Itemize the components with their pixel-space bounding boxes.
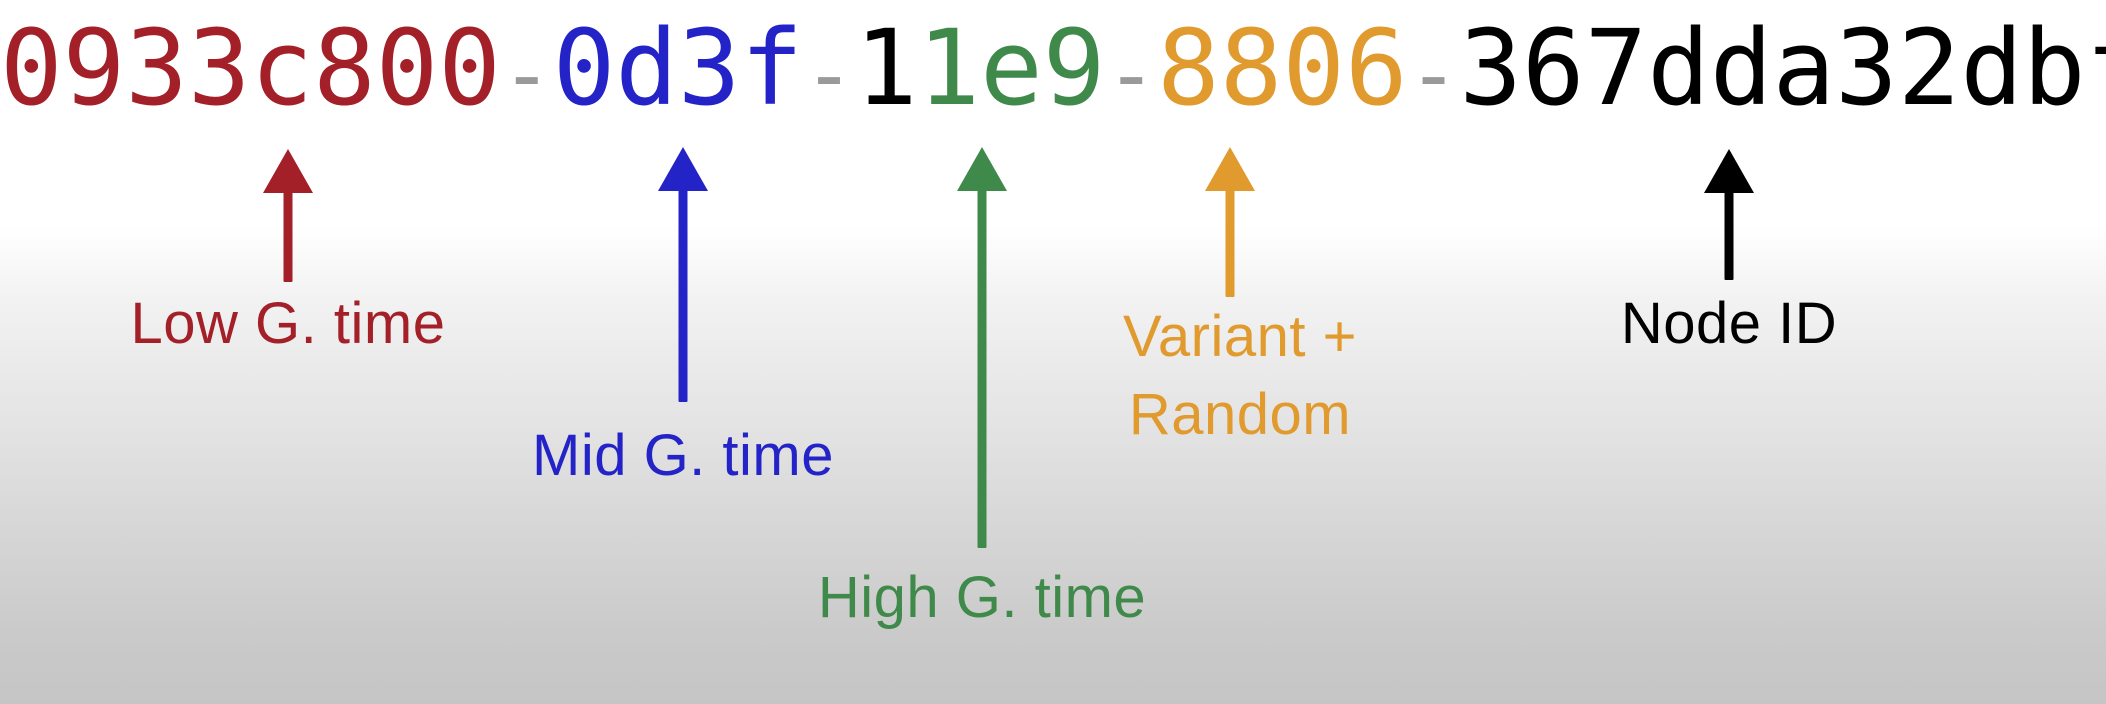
uuid-separator-2: -	[803, 25, 855, 125]
arrowshaft-variant-random	[1226, 188, 1235, 297]
uuid-string: 0933c800-0d3f-11e9-8806-367dda32dbf8	[0, 8, 2106, 135]
uuid-segment-node-id: 367dda32dbf8	[1459, 7, 2106, 129]
uuid-segment-version: 1	[855, 7, 918, 129]
label-node-id: Node ID	[1621, 288, 1837, 360]
uuid-segment-high-time: 1e9	[918, 7, 1106, 129]
arrowshaft-mid-g-time	[679, 188, 688, 402]
label-variant-random: Variant + Random	[1123, 298, 1357, 454]
uuid-separator-1: -	[501, 25, 553, 125]
label-variant-random-line1: Variant +	[1123, 298, 1357, 376]
arrowhead-high-g-time	[957, 147, 1007, 191]
arrowshaft-high-g-time	[978, 188, 987, 548]
arrowhead-variant-random	[1205, 147, 1255, 191]
label-mid-g-time: Mid G. time	[532, 420, 834, 492]
arrowhead-node-id	[1704, 149, 1754, 193]
arrowshaft-node-id	[1725, 190, 1734, 280]
uuid-segment-mid-time: 0d3f	[553, 7, 803, 129]
uuid-separator-3: -	[1105, 25, 1157, 125]
arrowshaft-low-g-time	[284, 190, 293, 282]
uuid-separator-4: -	[1408, 25, 1460, 125]
arrowhead-low-g-time	[263, 149, 313, 193]
label-low-g-time: Low G. time	[131, 288, 446, 360]
uuid-segment-low-time: 0933c800	[0, 7, 501, 129]
label-high-g-time: High G. time	[818, 562, 1146, 634]
uuid-segment-variant-random: 8806	[1157, 7, 1407, 129]
arrowhead-mid-g-time	[658, 147, 708, 191]
uuid-diagram-canvas: 0933c800-0d3f-11e9-8806-367dda32dbf8 Low…	[0, 0, 2106, 704]
label-variant-random-line2: Random	[1123, 376, 1357, 454]
